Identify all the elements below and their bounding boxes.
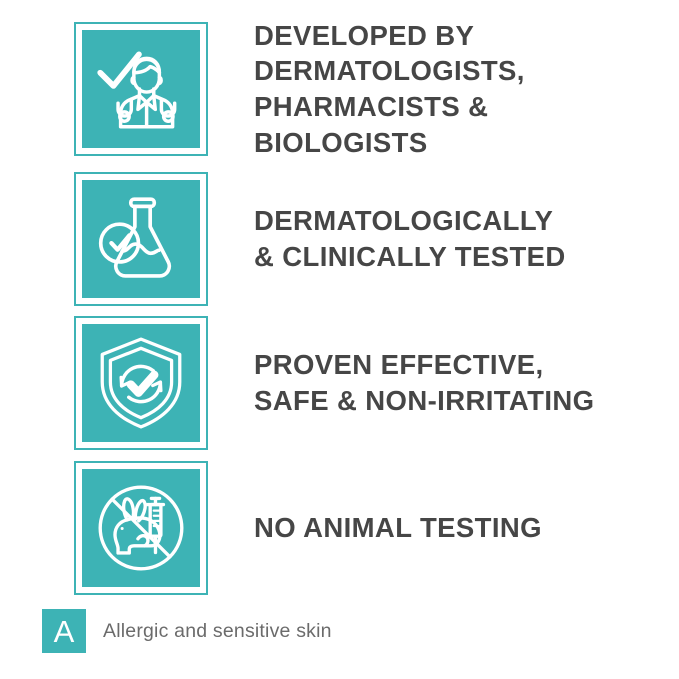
no-animal-testing-icon [82, 469, 200, 587]
shield-refresh-checkmark-icon [82, 324, 200, 442]
feature-text: Developed by dermatologists, pharmacists… [254, 18, 654, 161]
footer-label: Allergic and sensitive skin [103, 620, 332, 643]
icon-box [74, 461, 208, 595]
footer: A Allergic and sensitive skin [42, 609, 332, 653]
feature-row: No animal testing [74, 461, 654, 595]
feature-text: No animal testing [254, 510, 654, 546]
icon-box [74, 22, 208, 156]
icon-box [74, 316, 208, 450]
feature-text: Proven effective, safe & non-irritating [254, 347, 654, 419]
feature-row: Dermatologically & clinically tested [74, 172, 654, 306]
doctor-checkmark-icon [82, 30, 200, 148]
feature-row: Developed by dermatologists, pharmacists… [74, 22, 654, 156]
allergic-badge: A [42, 609, 86, 653]
feature-row: Proven effective, safe & non-irritating [74, 316, 654, 450]
flask-checkmark-icon [82, 180, 200, 298]
icon-box [74, 172, 208, 306]
feature-text: Dermatologically & clinically tested [254, 203, 654, 275]
infographic-root: Developed by dermatologists, pharmacists… [0, 0, 679, 679]
